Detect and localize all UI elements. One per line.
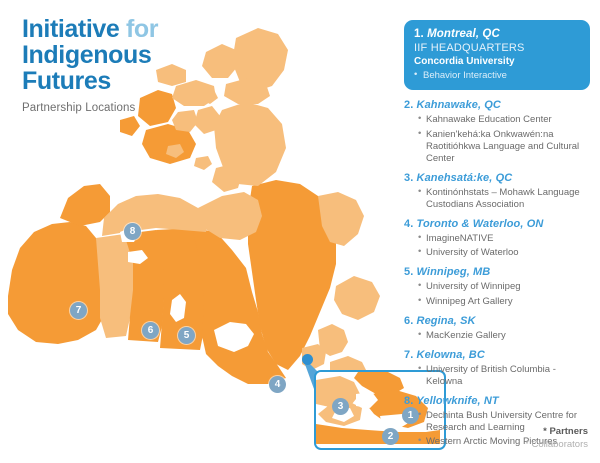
- map-pin-dot[interactable]: [302, 354, 313, 365]
- map-marker-4[interactable]: 4: [269, 376, 286, 393]
- region-newfoundland: [334, 276, 380, 320]
- highlight-number: 1.: [414, 28, 424, 40]
- legend-panel: 1. Montreal, QC IIF HEADQUARTERS Concord…: [404, 20, 590, 455]
- location-org-item: Kahnawake Education Center: [418, 114, 590, 126]
- location-org-list: Kontinónhstats – Mohawk Language Custodi…: [404, 187, 590, 211]
- island-small-c: [120, 116, 140, 136]
- location-number: 2.: [404, 99, 413, 111]
- location-entry[interactable]: 3. Kanehsatá:ke, QCKontinónhstats – Moha…: [404, 172, 590, 211]
- location-city: Kelowna, BC: [413, 349, 485, 361]
- highlight-item: Behavior Interactive: [414, 70, 580, 81]
- key-partners: * Partners: [525, 425, 588, 438]
- location-org-list: Kahnawake Education CenterKanien'kehá:ka…: [404, 114, 590, 165]
- location-heading: 5. Winnipeg, MB: [404, 266, 590, 278]
- location-city: Regina, SK: [413, 315, 475, 327]
- region-northwest-territories: [102, 194, 208, 236]
- location-number: 7.: [404, 349, 413, 361]
- map-marker-8[interactable]: 8: [124, 223, 141, 240]
- infographic-root: Initiative for Indigenous Futures Partne…: [0, 0, 600, 463]
- location-number: 8.: [404, 395, 413, 407]
- inset-marker-3[interactable]: 3: [332, 398, 349, 415]
- location-number: 4.: [404, 218, 413, 230]
- highlight-title: 1. Montreal, QC: [414, 28, 580, 40]
- location-city: Toronto & Waterloo, ON: [413, 218, 543, 230]
- location-heading: 4. Toronto & Waterloo, ON: [404, 218, 590, 230]
- location-entry[interactable]: 2. Kahnawake, QCKahnawake Education Cent…: [404, 99, 590, 165]
- location-org-list: ImagineNATIVEUniversity of Waterloo: [404, 233, 590, 260]
- inset-marker-2[interactable]: 2: [382, 428, 399, 445]
- location-org-item: Kontinónhstats – Mohawk Language Custodi…: [418, 187, 590, 211]
- location-org-item: Kanien'kehá:ka Onkwawén:na Raotitióhkwa …: [418, 129, 590, 165]
- highlight-tag: IIF HEADQUARTERS: [414, 42, 580, 54]
- title-line-1: Initiative for: [22, 16, 158, 42]
- title-line-2: Indigenous: [22, 42, 158, 68]
- location-heading: 8. Yellowknife, NT: [404, 395, 590, 407]
- location-heading: 2. Kahnawake, QC: [404, 99, 590, 111]
- location-heading: 7. Kelowna, BC: [404, 349, 590, 361]
- map-marker-7[interactable]: 7: [70, 302, 87, 319]
- key-collaborators: * Collaborators: [525, 438, 588, 451]
- island-prince-of-wales: [172, 110, 198, 132]
- location-entry[interactable]: 5. Winnipeg, MBUniversity of WinnipegWin…: [404, 266, 590, 308]
- island-axel: [202, 44, 238, 78]
- location-number: 5.: [404, 266, 413, 278]
- legend-key: * Partners * Collaborators: [525, 425, 588, 451]
- location-city: Kahnawake, QC: [413, 99, 501, 111]
- region-yukon: [60, 184, 110, 226]
- location-org-item: University of British Columbia - Kelowna: [418, 364, 590, 388]
- map-marker-6[interactable]: 6: [142, 322, 159, 339]
- region-british-columbia: [8, 222, 106, 344]
- title-initiative: Initiative: [22, 15, 119, 43]
- location-number: 6.: [404, 315, 413, 327]
- highlight-org: Concordia University: [414, 56, 580, 67]
- location-entry[interactable]: 6. Regina, SKMacKenzie Gallery: [404, 315, 590, 342]
- location-entry[interactable]: 4. Toronto & Waterloo, ONImagineNATIVEUn…: [404, 218, 590, 260]
- location-city: Winnipeg, MB: [413, 266, 490, 278]
- location-org-item: University of Waterloo: [418, 247, 590, 259]
- region-alberta: [96, 234, 134, 338]
- location-org-list: University of WinnipegWinnipeg Art Galle…: [404, 281, 590, 308]
- location-city: Yellowknife, NT: [413, 395, 498, 407]
- island-small-e: [194, 156, 212, 170]
- location-list: 2. Kahnawake, QCKahnawake Education Cent…: [404, 99, 590, 448]
- title-block: Initiative for Indigenous Futures Partne…: [22, 16, 158, 114]
- title-for: for: [126, 15, 158, 43]
- location-org-list: MacKenzie Gallery: [404, 330, 590, 342]
- location-city: Kanehsatá:ke, QC: [413, 172, 512, 184]
- title-line-3: Futures: [22, 68, 158, 94]
- location-org-item: MacKenzie Gallery: [418, 330, 590, 342]
- map-marker-5[interactable]: 5: [178, 327, 195, 344]
- highlight-city: Montreal, QC: [427, 28, 500, 40]
- location-entry[interactable]: 7. Kelowna, BCUniversity of British Colu…: [404, 349, 590, 388]
- highlight-card-montreal[interactable]: 1. Montreal, QC IIF HEADQUARTERS Concord…: [404, 20, 590, 90]
- location-org-item: University of Winnipeg: [418, 281, 590, 293]
- location-org-item: Winnipeg Art Gallery: [418, 296, 590, 308]
- location-org-list: University of British Columbia - Kelowna: [404, 364, 590, 388]
- location-number: 3.: [404, 172, 413, 184]
- island-prince-patrick: [156, 64, 186, 86]
- location-heading: 6. Regina, SK: [404, 315, 590, 327]
- location-heading: 3. Kanehsatá:ke, QC: [404, 172, 590, 184]
- subtitle: Partnership Locations: [22, 102, 158, 114]
- location-org-item: ImagineNATIVE: [418, 233, 590, 245]
